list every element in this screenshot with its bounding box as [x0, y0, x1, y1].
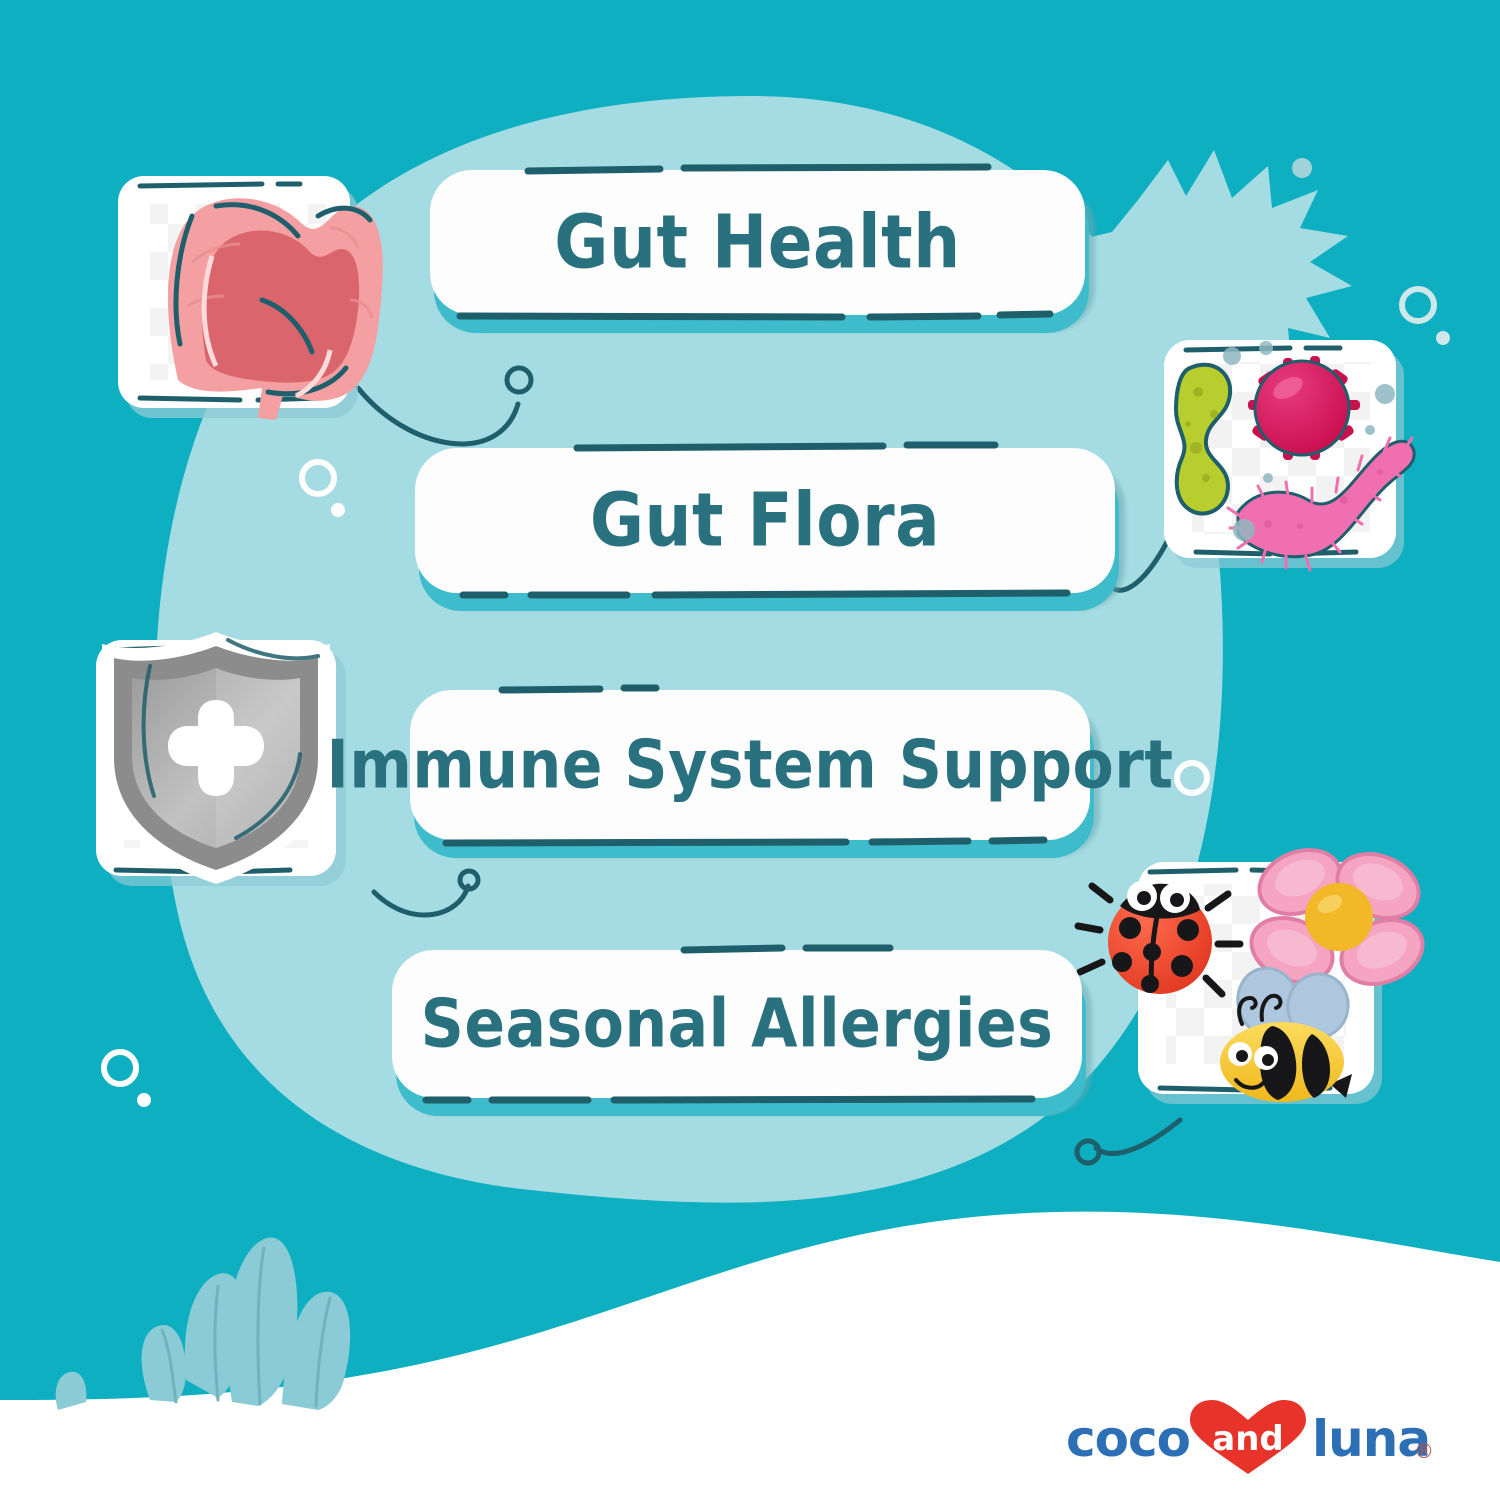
logo-svg: coco and luna ®: [1062, 1398, 1434, 1476]
card-body: Immune System Support: [410, 690, 1090, 840]
card-label-seasonal-allergies: Seasonal Allergies: [421, 985, 1054, 1063]
card-body: Gut Health: [430, 170, 1085, 315]
card-seasonal-allergies[interactable]: Seasonal Allergies: [392, 950, 1082, 1098]
infographic-canvas: Gut Health Gut Flora: [0, 0, 1500, 1493]
cards-layer: Gut Health Gut Flora: [0, 0, 1500, 1493]
brand-logo: coco and luna ®: [1062, 1398, 1434, 1476]
logo-word-one: coco: [1066, 1410, 1190, 1468]
card-immune-support[interactable]: Immune System Support: [410, 690, 1090, 840]
card-gut-health[interactable]: Gut Health: [430, 170, 1085, 315]
logo-word-two: luna: [1312, 1410, 1430, 1468]
card-label-gut-flora: Gut Flora: [590, 477, 940, 563]
card-label-gut-health: Gut Health: [554, 199, 960, 285]
card-body: Seasonal Allergies: [392, 950, 1082, 1098]
card-body: Gut Flora: [415, 448, 1115, 593]
logo-word-heart: and: [1212, 1419, 1284, 1459]
card-label-immune-support: Immune System Support: [327, 726, 1174, 804]
card-gut-flora[interactable]: Gut Flora: [415, 448, 1115, 593]
logo-trademark: ®: [1414, 1439, 1434, 1463]
